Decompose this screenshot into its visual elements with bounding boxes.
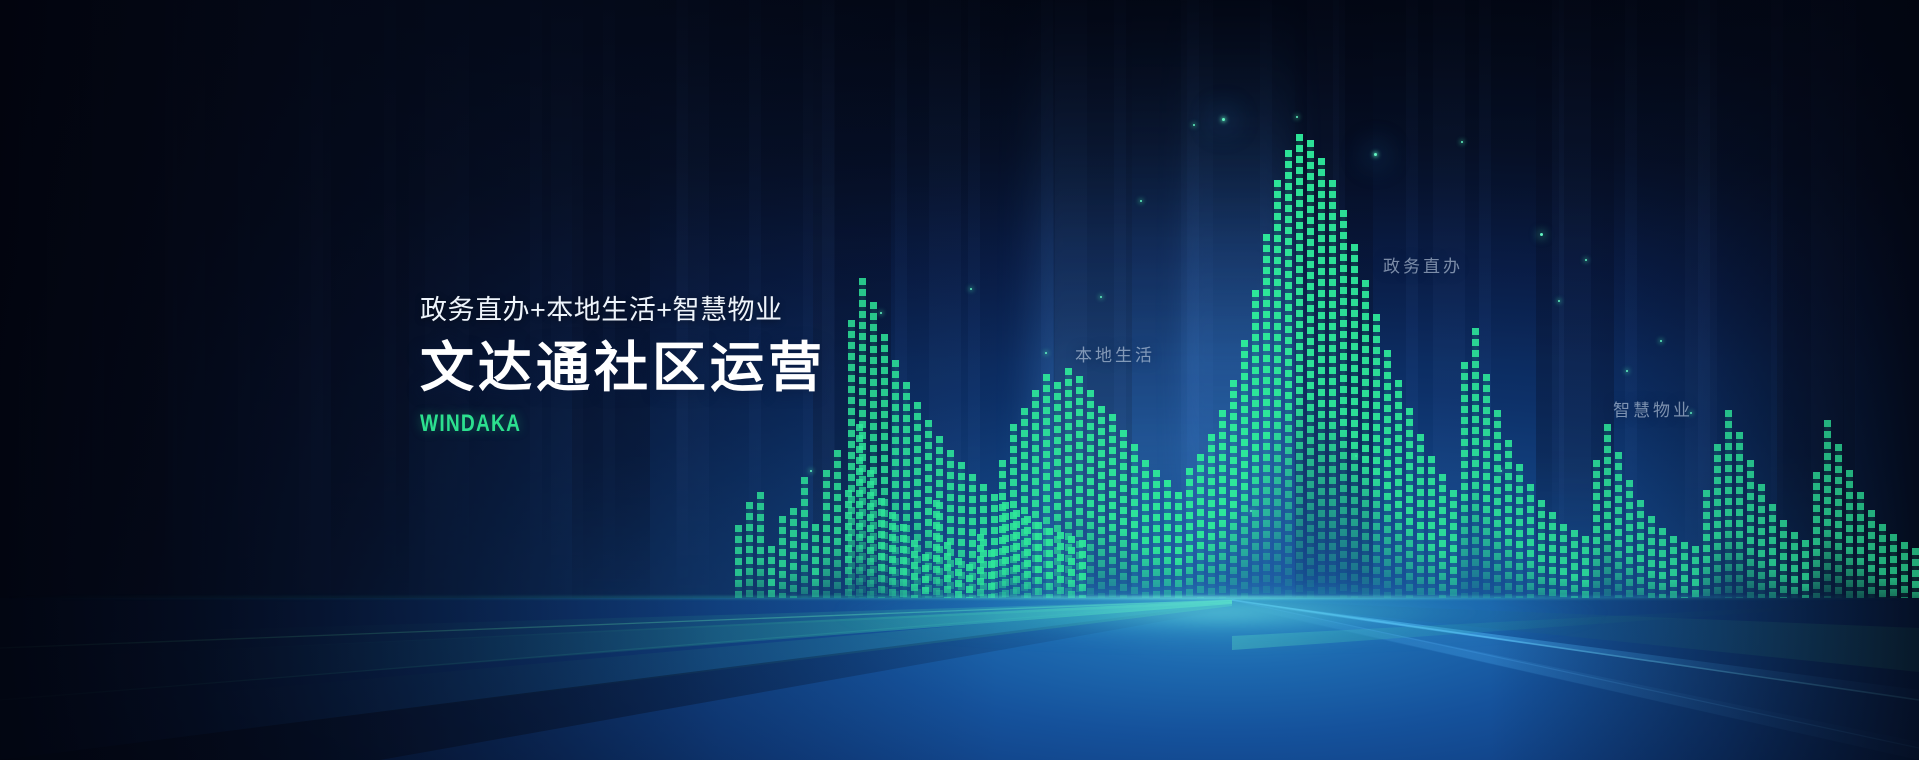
headline-block: 政务直办+本地生活+智慧物业 文达通社区运营 WINDAKA xyxy=(420,294,1120,438)
skyline-tag-government: 政务直办 xyxy=(1383,252,1463,277)
skyline-tag-smart-property: 智慧物业 xyxy=(1613,396,1693,421)
kicker-text: 政务直办+本地生活+智慧物业 xyxy=(420,294,1120,326)
brand-wordmark: WINDAKA xyxy=(420,410,980,438)
page-title: 文达通社区运营 xyxy=(420,339,1120,397)
banner-canvas: 政务直办 本地生活 智慧物业 政务直办+本地生活+智慧物业 文达通社区运营 WI… xyxy=(0,0,1919,760)
horizon-glow xyxy=(700,566,1700,652)
horizon-line xyxy=(0,596,1919,599)
